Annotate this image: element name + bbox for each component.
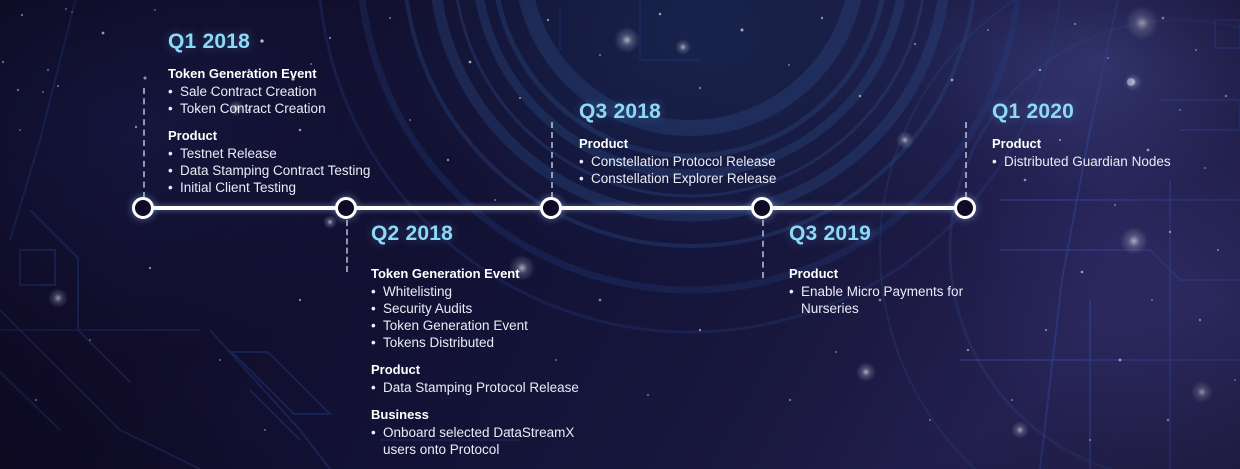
timeline-node-q3-2018[interactable] [540,197,562,219]
list-item: Data Stamping Protocol Release [371,379,606,396]
milestone-group: Product Testnet Release Data Stamping Co… [168,128,398,196]
milestone-group: Token Generation Event Sale Contract Cre… [168,66,398,117]
milestone-q2-2018: Q2 2018 Token Generation Event Whitelist… [371,222,606,458]
list-item: Constellation Explorer Release [579,170,794,187]
group-title: Business [371,407,606,422]
milestone-q3-2018: Q3 2018 Product Constellation Protocol R… [579,100,794,187]
connector-q1-2020 [965,122,967,198]
milestone-title: Q1 2018 [168,30,398,54]
timeline-infographic: Q1 2018 Token Generation Event Sale Cont… [0,0,1240,469]
milestone-q3-2019: Q3 2019 Product Enable Micro Payments fo… [789,222,989,317]
milestone-title: Q3 2018 [579,100,794,124]
group-title: Product [992,136,1172,151]
connector-q2-2018 [346,220,348,272]
list-item: Token Contract Creation [168,100,398,117]
group-title: Product [789,266,989,281]
timeline-node-q2-2018[interactable] [335,197,357,219]
timeline-node-q1-2020[interactable] [954,197,976,219]
group-title: Token Generation Event [371,266,606,281]
list-item: Onboard selected DataStreamX users onto … [371,424,606,458]
milestone-q1-2020: Q1 2020 Product Distributed Guardian Nod… [992,100,1172,170]
list-item: Enable Micro Payments for Nurseries [789,283,989,317]
group-items: Whitelisting Security Audits Token Gener… [371,283,606,351]
milestone-group: Product Data Stamping Protocol Release [371,362,606,396]
group-items: Enable Micro Payments for Nurseries [789,283,989,317]
group-title: Token Generation Event [168,66,398,81]
milestone-q1-2018: Q1 2018 Token Generation Event Sale Cont… [168,30,398,196]
list-item: Initial Client Testing [168,179,398,196]
group-items: Constellation Protocol Release Constella… [579,153,794,187]
list-item: Testnet Release [168,145,398,162]
list-item: Security Audits [371,300,606,317]
list-item: Sale Contract Creation [168,83,398,100]
milestone-group: Product Enable Micro Payments for Nurser… [789,266,989,317]
group-title: Product [371,362,606,377]
list-item: Tokens Distributed [371,334,606,351]
connector-q1-2018 [143,88,145,198]
milestone-group: Product Distributed Guardian Nodes [992,136,1172,170]
list-item: Data Stamping Contract Testing [168,162,398,179]
group-items: Testnet Release Data Stamping Contract T… [168,145,398,196]
group-items: Sale Contract Creation Token Contract Cr… [168,83,398,117]
milestone-group: Token Generation Event Whitelisting Secu… [371,266,606,351]
timeline-node-q1-2018[interactable] [132,197,154,219]
milestone-group: Business Onboard selected DataStreamX us… [371,407,606,458]
milestone-title: Q1 2020 [992,100,1172,124]
connector-q3-2018 [551,122,553,198]
group-items: Distributed Guardian Nodes [992,153,1172,170]
list-item: Whitelisting [371,283,606,300]
milestone-title: Q3 2019 [789,222,989,246]
group-title: Product [579,136,794,151]
group-title: Product [168,128,398,143]
list-item: Distributed Guardian Nodes [992,153,1172,170]
group-items: Onboard selected DataStreamX users onto … [371,424,606,458]
list-item: Token Generation Event [371,317,606,334]
milestone-title: Q2 2018 [371,222,606,246]
group-items: Data Stamping Protocol Release [371,379,606,396]
timeline-node-q3-2019[interactable] [751,197,773,219]
connector-q3-2019 [762,220,764,278]
milestone-group: Product Constellation Protocol Release C… [579,136,794,187]
list-item: Constellation Protocol Release [579,153,794,170]
